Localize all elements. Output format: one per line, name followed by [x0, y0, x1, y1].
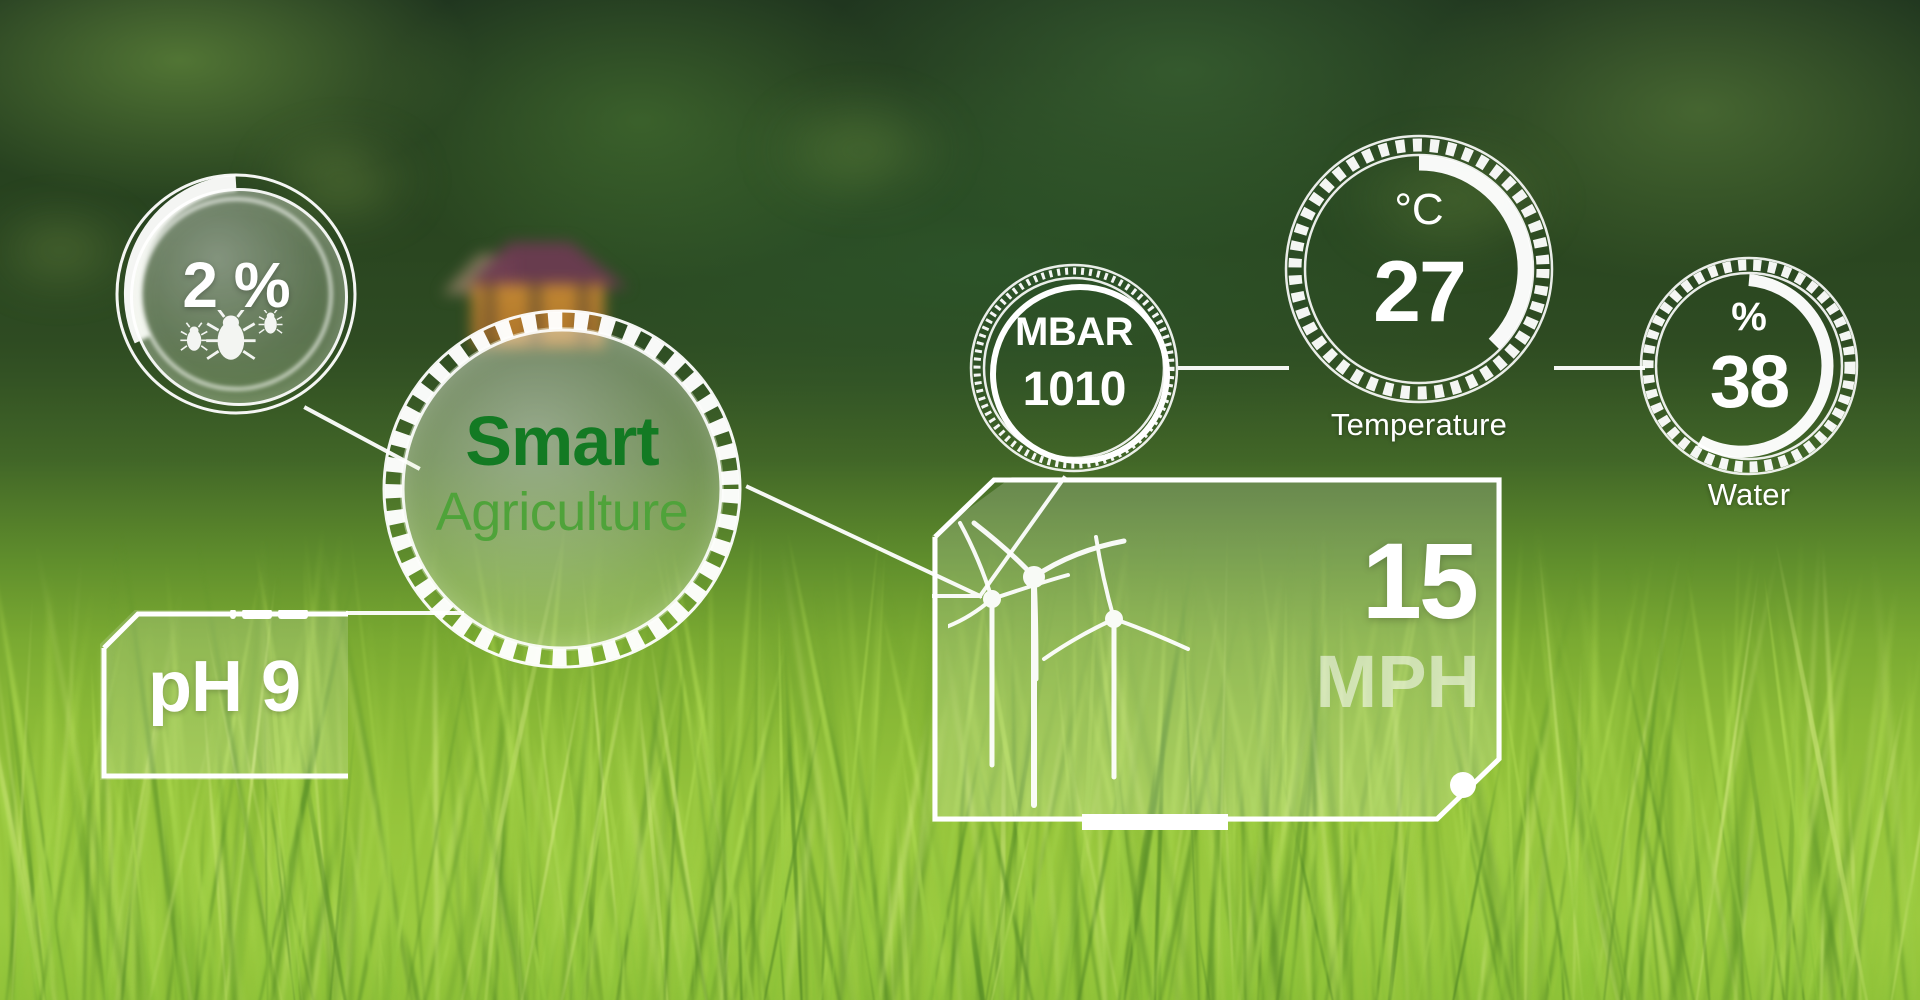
- wind-panel-indicator-dot: [1450, 772, 1476, 798]
- pest-gauge[interactable]: 2 %: [112, 170, 360, 418]
- smart-badge-line2: Agriculture: [378, 481, 746, 543]
- water-gauge-unit: %: [1638, 295, 1860, 340]
- wind-panel[interactable]: 15 MPH: [932, 477, 1502, 822]
- wind-panel-unit: MPH: [1316, 645, 1480, 719]
- insects-icon: [112, 310, 360, 373]
- pressure-gauge[interactable]: MBAR 1010: [968, 262, 1180, 474]
- water-gauge-caption: Water: [1638, 477, 1860, 513]
- pressure-gauge-unit: MBAR: [968, 310, 1180, 355]
- water-gauge-value: 38: [1638, 339, 1860, 424]
- ph-panel[interactable]: pH 9: [100, 610, 348, 780]
- water-gauge[interactable]: % 38 Water: [1638, 255, 1860, 477]
- screenshot-root: 2 %: [0, 0, 1920, 1000]
- smart-agriculture-badge[interactable]: Smart Agriculture: [378, 305, 746, 673]
- temperature-gauge-caption: Temperature: [1283, 407, 1555, 443]
- pressure-gauge-value: 1010: [968, 362, 1180, 417]
- wind-panel-bottom-bar: [1082, 814, 1228, 830]
- wind-turbine-icon: [948, 515, 1278, 815]
- temperature-gauge-value: 27: [1283, 243, 1555, 342]
- wind-panel-value: 15: [1362, 527, 1476, 635]
- temperature-gauge-unit: °C: [1283, 185, 1555, 235]
- temperature-gauge[interactable]: °C 27 Temperature: [1283, 133, 1555, 405]
- ph-panel-value: pH 9: [100, 646, 348, 728]
- smart-badge-line1: Smart: [378, 401, 746, 481]
